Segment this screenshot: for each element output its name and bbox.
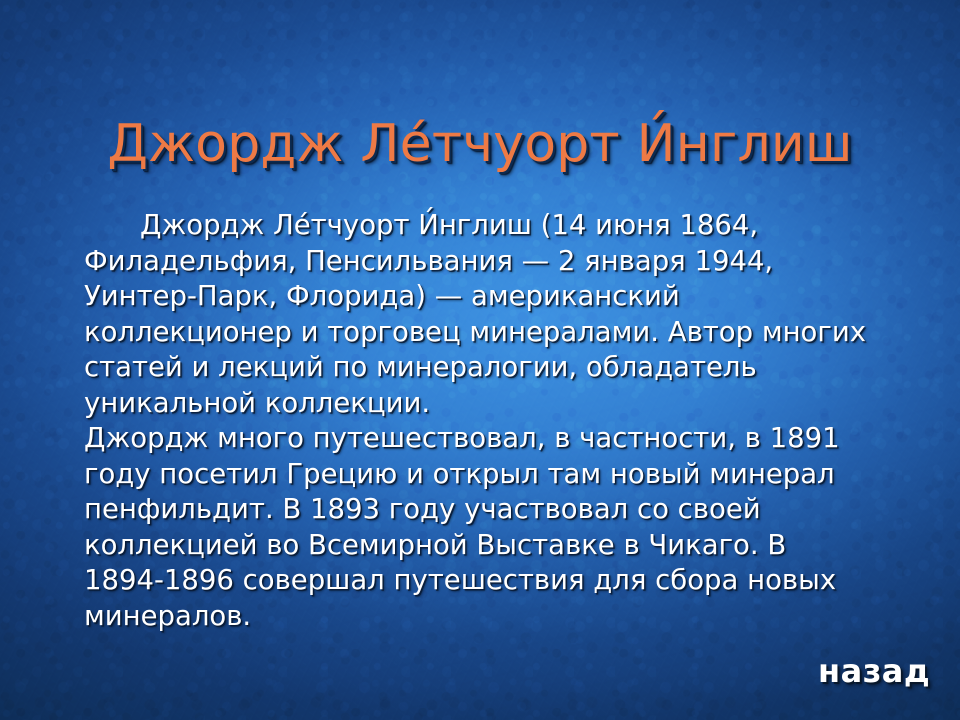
page-title: Джордж Ле́тчуорт И́нглиш bbox=[0, 117, 960, 172]
body-line: Уинтер-Парк, Флорида) — американский bbox=[84, 279, 884, 315]
back-button[interactable]: назад bbox=[818, 652, 930, 690]
body-line: году посетил Грецию и открыл там новый м… bbox=[84, 457, 884, 493]
body-line: уникальной коллекции. bbox=[84, 386, 884, 422]
presentation-slide: Джордж Ле́тчуорт И́нглиш Джордж Ле́тчуор… bbox=[0, 0, 960, 720]
body-line: 1894-1896 совершал путешествия для сбора… bbox=[84, 563, 884, 599]
body-line: минералов. bbox=[84, 599, 884, 635]
body-line: коллекционер и торговец минералами. Авто… bbox=[84, 315, 884, 351]
body-line: Филадельфия, Пенсильвания — 2 января 194… bbox=[84, 244, 884, 280]
body-line: Джордж Ле́тчуорт И́нглиш (14 июня 1864, bbox=[84, 208, 884, 244]
body-line: пенфильдит. В 1893 году участвовал со св… bbox=[84, 492, 884, 528]
body-line: статей и лекций по минералогии, обладате… bbox=[84, 350, 884, 386]
body-line: коллекцией во Всемирной Выставке в Чикаг… bbox=[84, 528, 884, 564]
body-text-block: Джордж Ле́тчуорт И́нглиш (14 июня 1864,Ф… bbox=[84, 208, 884, 634]
body-line: Джордж много путешествовал, в частности,… bbox=[84, 421, 884, 457]
